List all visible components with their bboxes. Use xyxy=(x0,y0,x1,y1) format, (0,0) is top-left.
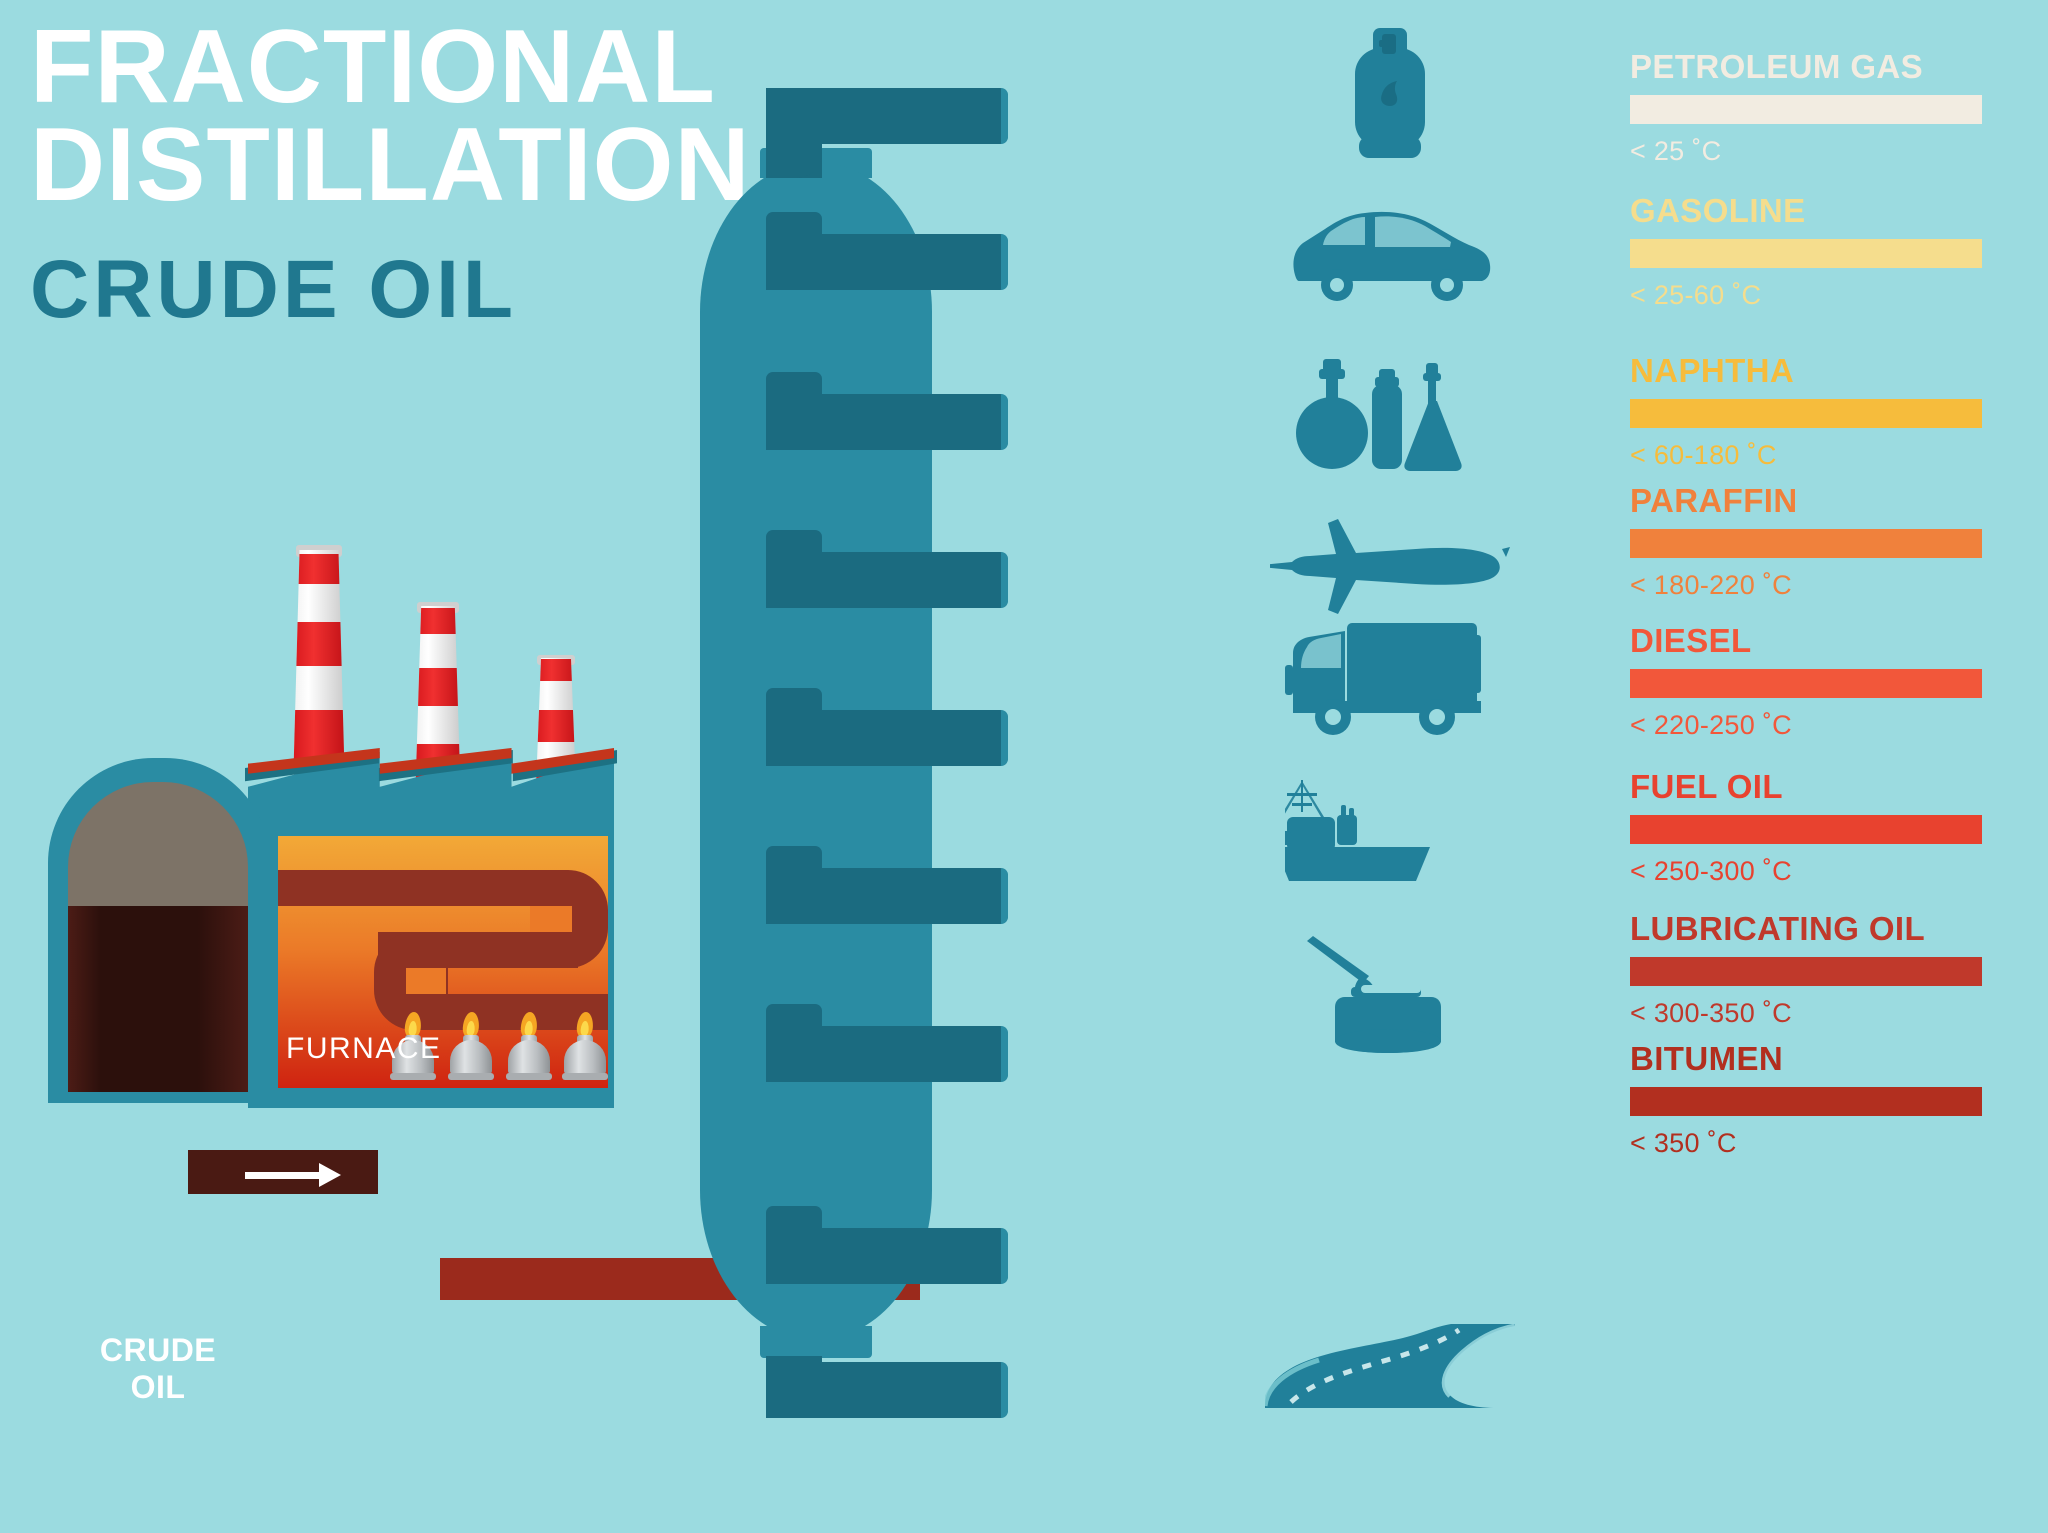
fraction-temperature: < 250-300 ˚C xyxy=(1630,855,2048,887)
fraction-name: LUBRICATING OIL xyxy=(1630,910,2048,948)
furnace-coil-inner-1 xyxy=(530,906,572,932)
fraction-temperature: < 60-180 ˚C xyxy=(1630,439,2048,471)
icon-slot-fuel-oil xyxy=(1240,770,1540,900)
furnace-coil-segment-1 xyxy=(278,870,546,906)
product-icons-column xyxy=(1240,0,1540,1533)
ship-icon xyxy=(1285,775,1495,895)
fraction-name: BITUMEN xyxy=(1630,1040,2048,1078)
fraction-temperature: < 180-220 ˚C xyxy=(1630,569,2048,601)
fraction-name: PARAFFIN xyxy=(1630,482,2048,520)
fraction-row-fuel-oil[interactable]: FUEL OIL < 250-300 ˚C xyxy=(1630,768,2048,887)
burner-3 xyxy=(508,1034,550,1080)
fraction-row-naphtha[interactable]: NAPHTHA < 60-180 ˚C xyxy=(1630,352,2048,471)
gas-cylinder-icon xyxy=(1335,28,1445,168)
icon-slot-bitumen xyxy=(1240,1300,1540,1430)
crude-oil-liquid xyxy=(68,906,248,1092)
icon-slot-gasoline xyxy=(1240,188,1540,308)
column-bottom-collar xyxy=(760,1326,872,1358)
fraction-color-bar xyxy=(1630,957,1982,986)
burner-2 xyxy=(450,1034,492,1080)
fraction-color-bar xyxy=(1630,95,1982,124)
oil-can-icon xyxy=(1305,935,1475,1055)
fraction-color-bar xyxy=(1630,815,1982,844)
fraction-row-bitumen[interactable]: BITUMEN < 350 ˚C xyxy=(1630,1040,2048,1159)
fraction-name: NAPHTHA xyxy=(1630,352,2048,390)
furnace-label: FURNACE xyxy=(286,1032,442,1066)
crude-oil-tank-inner xyxy=(68,782,248,1092)
icon-slot-diesel xyxy=(1240,612,1540,742)
icon-slot-naphtha xyxy=(1240,352,1540,482)
burner-4 xyxy=(564,1034,606,1080)
fraction-row-gasoline[interactable]: GASOLINE < 25-60 ˚C xyxy=(1630,192,2048,311)
fraction-temperature: < 25-60 ˚C xyxy=(1630,279,2048,311)
crude-oil-label: CRUDE OIL xyxy=(68,1332,248,1406)
infographic-canvas: FRACTIONAL DISTILLATION CRUDE OIL xyxy=(0,0,2048,1533)
fraction-color-bar xyxy=(1630,1087,1982,1116)
fraction-row-petroleum-gas[interactable]: PETROLEUM GAS < 25 ˚C xyxy=(1630,48,2048,167)
truck-icon xyxy=(1285,617,1495,737)
fraction-temperature: < 300-350 ˚C xyxy=(1630,997,2048,1029)
title-line-2: DISTILLATION xyxy=(30,116,751,214)
chemistry-flasks-icon xyxy=(1295,357,1485,477)
car-icon xyxy=(1285,193,1495,303)
icon-slot-lubricating-oil xyxy=(1240,930,1540,1060)
fraction-name: DIESEL xyxy=(1630,622,2048,660)
fractions-legend: PETROLEUM GAS < 25 ˚C GASOLINE < 25-60 ˚… xyxy=(1630,0,2048,1533)
fraction-color-bar xyxy=(1630,669,1982,698)
fraction-color-bar xyxy=(1630,529,1982,558)
fraction-temperature: < 220-250 ˚C xyxy=(1630,709,2048,741)
fraction-row-paraffin[interactable]: PARAFFIN < 180-220 ˚C xyxy=(1630,482,2048,601)
icon-slot-petroleum-gas xyxy=(1240,28,1540,168)
page-title: FRACTIONAL DISTILLATION CRUDE OIL xyxy=(30,18,751,338)
fraction-temperature: < 350 ˚C xyxy=(1630,1127,2048,1159)
title-line-1: FRACTIONAL xyxy=(30,18,751,116)
fraction-row-diesel[interactable]: DIESEL < 220-250 ˚C xyxy=(1630,622,2048,741)
distillation-column xyxy=(700,0,1260,1533)
icon-slot-paraffin xyxy=(1240,500,1540,620)
fraction-row-lubricating-oil[interactable]: LUBRICATING OIL < 300-350 ˚C xyxy=(1630,910,2048,1029)
airplane-icon xyxy=(1270,505,1510,615)
fraction-temperature: < 25 ˚C xyxy=(1630,135,2048,167)
fraction-color-bar xyxy=(1630,239,1982,268)
title-subtitle: CRUDE OIL xyxy=(30,242,751,338)
fraction-color-bar xyxy=(1630,399,1982,428)
furnace-coil-inner-2 xyxy=(406,968,446,994)
fraction-name: FUEL OIL xyxy=(1630,768,2048,806)
road-icon xyxy=(1265,1310,1515,1420)
fraction-name: GASOLINE xyxy=(1630,192,2048,230)
fraction-name: PETROLEUM GAS xyxy=(1630,48,2048,86)
